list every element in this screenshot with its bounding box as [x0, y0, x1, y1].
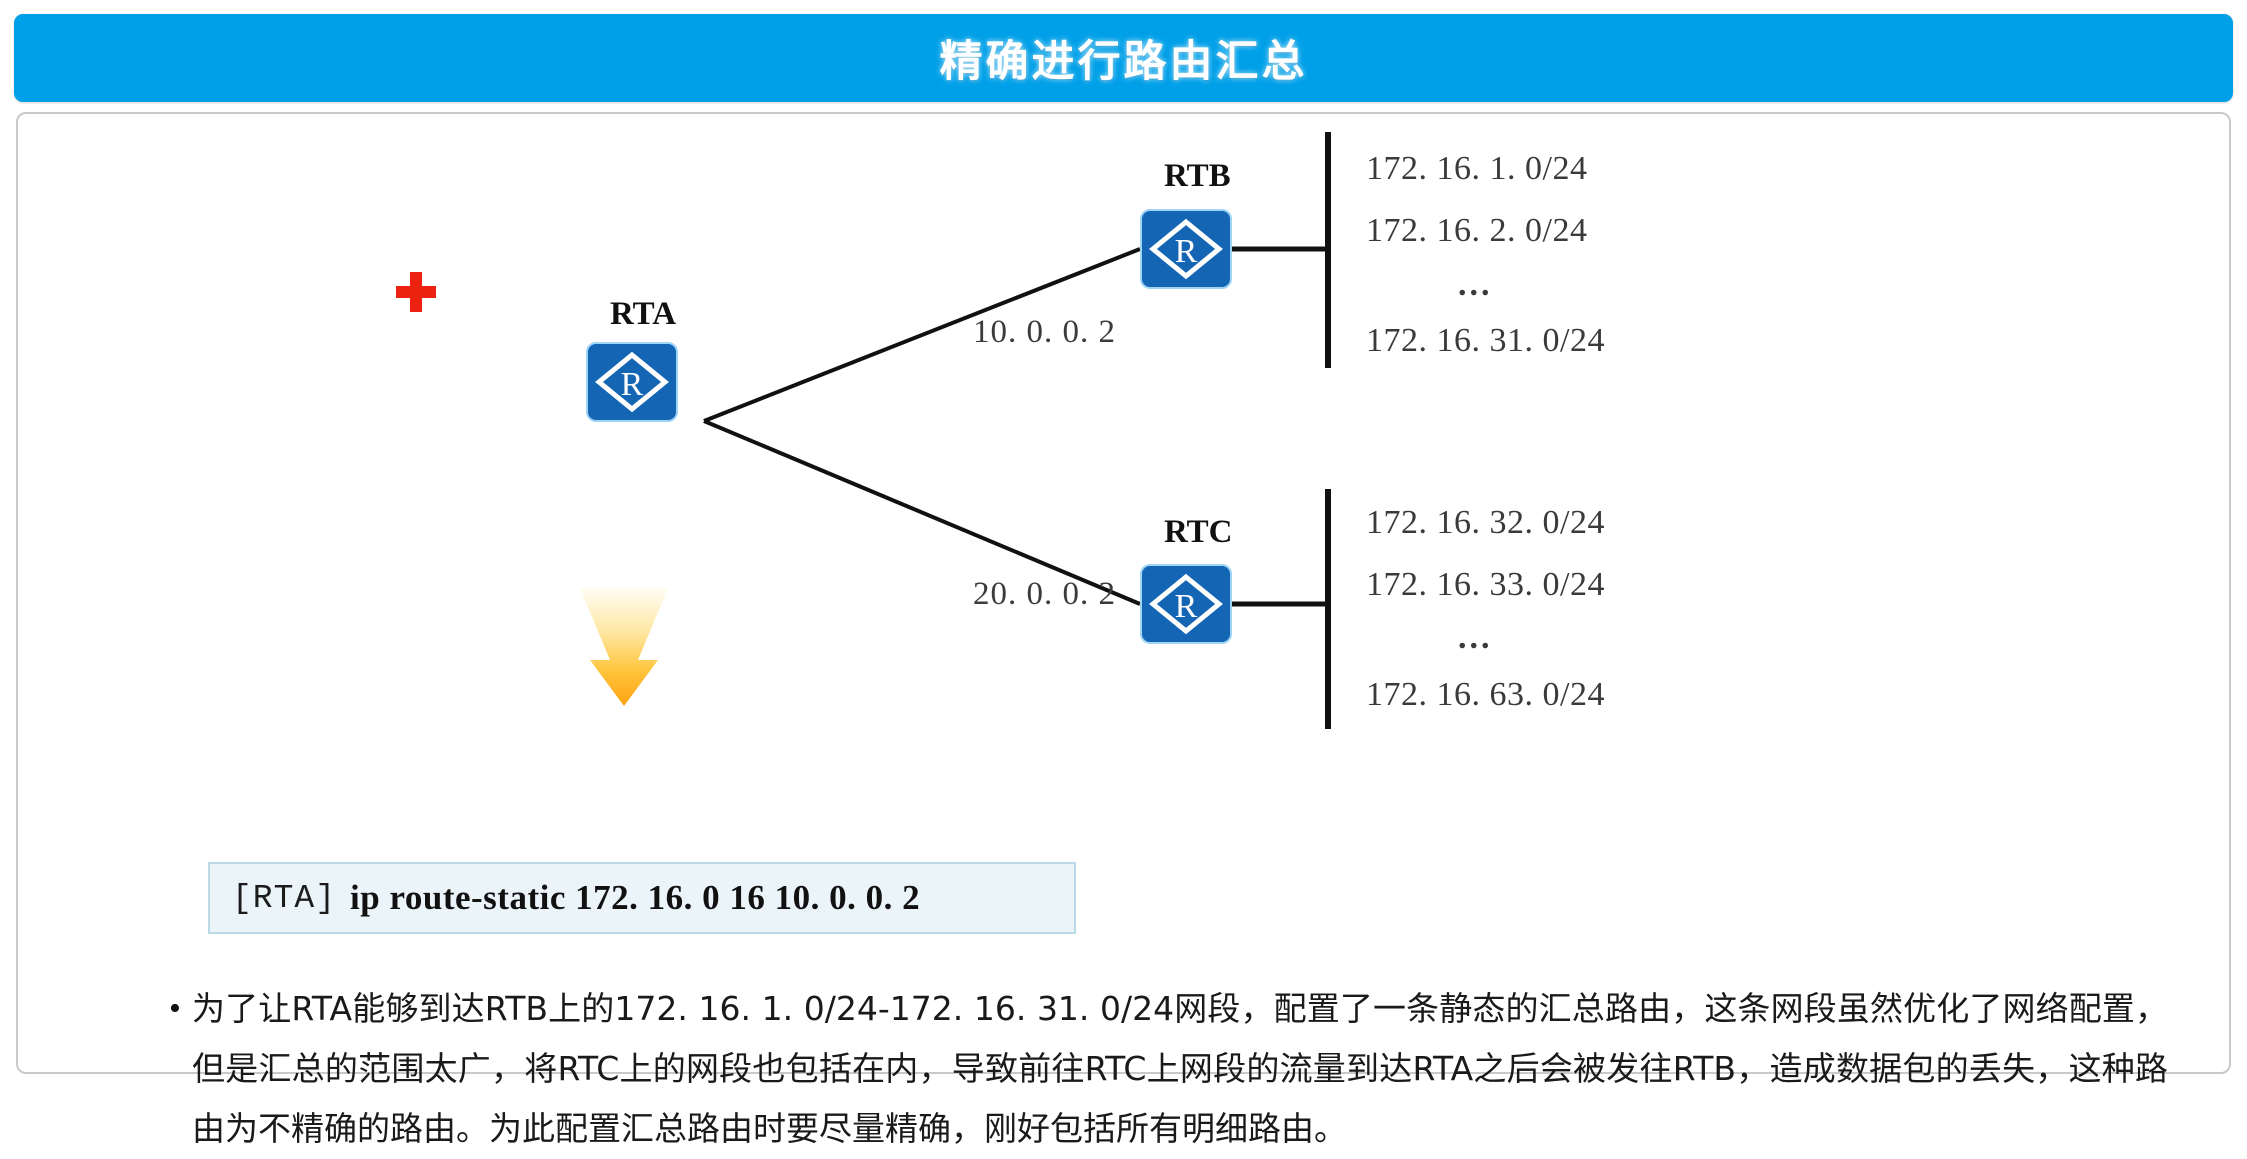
router-label-rtc: RTC	[1164, 514, 1233, 551]
network-diagram	[18, 114, 2233, 814]
svg-text:R: R	[1175, 588, 1198, 625]
slide-page: 精确进行路由汇总	[0, 0, 2247, 1096]
header-banner: 精确进行路由汇总	[14, 14, 2233, 102]
network-label: 172. 16. 31. 0/24	[1366, 322, 1605, 360]
network-label: 172. 16. 33. 0/24	[1366, 566, 1605, 604]
command-box: [RTA] ip route-static 172. 16. 0 16 10. …	[208, 862, 1076, 934]
page-title: 精确进行路由汇总	[940, 27, 1308, 89]
network-label: 172. 16. 1. 0/24	[1366, 150, 1587, 188]
bullet-marker: •	[158, 979, 192, 1039]
content-panel: RTA R RTB R RTC R 10	[16, 112, 2231, 1074]
svg-text:R: R	[621, 366, 644, 403]
network-ellipsis: ...	[1458, 266, 1493, 304]
router-icon-rtb[interactable]: R	[1140, 209, 1232, 289]
red-cross-icon	[396, 272, 436, 312]
note-text: 为了让RTA能够到达RTB上的172. 16. 1. 0/24-172. 16.…	[192, 979, 2168, 1159]
link-label-rta-rtb: 10. 0. 0. 2	[973, 314, 1116, 351]
command-text: ip route-static 172. 16. 0 16 10. 0. 0. …	[350, 878, 920, 918]
network-label: 172. 16. 32. 0/24	[1366, 504, 1605, 542]
router-label-rtb: RTB	[1164, 158, 1231, 195]
note-bullet-item: • 为了让RTA能够到达RTB上的172. 16. 1. 0/24-172. 1…	[158, 979, 2168, 1159]
router-label-rta: RTA	[610, 296, 676, 333]
network-ellipsis: ...	[1458, 619, 1493, 657]
command-prompt: [RTA]	[232, 880, 336, 917]
down-arrow-icon	[578, 586, 670, 708]
router-icon-rtc[interactable]: R	[1140, 564, 1232, 644]
svg-text:R: R	[1175, 233, 1198, 270]
network-label: 172. 16. 63. 0/24	[1366, 676, 1605, 714]
router-icon-rta[interactable]: R	[586, 342, 678, 422]
network-label: 172. 16. 2. 0/24	[1366, 212, 1587, 250]
link-label-rta-rtc: 20. 0. 0. 2	[973, 576, 1116, 613]
